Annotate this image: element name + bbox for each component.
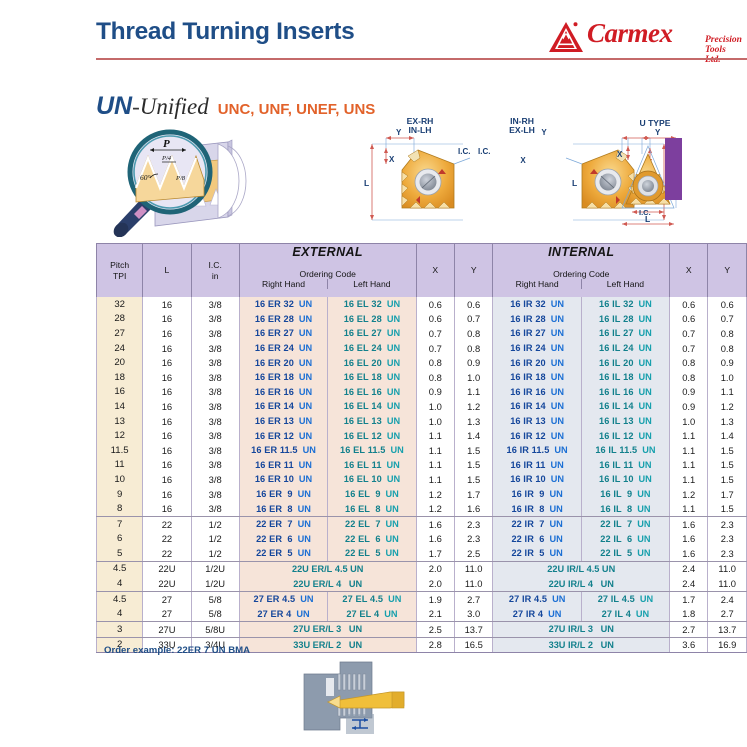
cell-internal-y: 1.4 (708, 428, 747, 443)
cell-internal-left-hand: 22 IL 7UN (581, 516, 669, 531)
table-row: 10163/816 ER 10UN16 EL 10UN1.11.516 IR 1… (97, 472, 747, 487)
cell-external-right-hand: 22 ER 5UN (239, 546, 327, 561)
cell-pitch-tpi: 11.5 (97, 443, 143, 458)
cell-pitch-tpi: 14 (97, 399, 143, 414)
cell-external-y: 1.5 (454, 443, 493, 458)
cell-pitch-tpi: 24 (97, 341, 143, 356)
cell-ic: 1/2 (191, 546, 239, 561)
diagram-2-x-label: X (520, 156, 526, 165)
cell-external-x: 1.2 (416, 487, 454, 502)
diagram-2-y-label: Y (541, 128, 547, 137)
cell-ic: 1/2 (191, 516, 239, 531)
cell-external-left-hand: 27 EL 4.5UN (328, 591, 416, 606)
cell-internal-x: 2.4 (670, 561, 708, 576)
col-header-ic: I.C. in (191, 244, 239, 298)
cell-ic: 3/8 (191, 385, 239, 400)
svg-text:X: X (389, 155, 395, 164)
cell-external-right-hand: 16 ER 11.5UN (239, 443, 327, 458)
cell-internal-x: 2.4 (670, 576, 708, 591)
cell-internal-left-hand: 27 IL 4.5UN (581, 591, 669, 606)
table-row: 327U5/8U27U ER/L 3 UN2.513.727U IR/L 3 U… (97, 622, 747, 638)
cell-external-x: 2.0 (416, 576, 454, 591)
cell-external-right-hand: 16 ER 9UN (239, 487, 327, 502)
cell-external-x: 0.7 (416, 326, 454, 341)
table-row: 13163/816 ER 13UN16 EL 13UN1.01.316 IR 1… (97, 414, 747, 429)
cell-l: 16 (143, 443, 191, 458)
table-row: 24163/816 ER 24UN16 EL 24UN0.70.816 IR 2… (97, 341, 747, 356)
cell-external-y: 13.7 (454, 622, 493, 638)
svg-text:L: L (364, 178, 369, 188)
cell-external-x: 2.0 (416, 561, 454, 576)
cell-internal-y: 13.7 (708, 622, 747, 638)
cell-internal-x: 0.7 (670, 341, 708, 356)
col-header-internal-ordering: Ordering Code Right Hand Left Hand (493, 261, 670, 297)
cell-external-y: 1.4 (454, 428, 493, 443)
cell-internal-left-hand: 16 IL 24UN (581, 341, 669, 356)
cell-external-y: 1.7 (454, 487, 493, 502)
cell-internal-y: 0.6 (708, 297, 747, 312)
cell-external-y: 1.2 (454, 399, 493, 414)
diagram-1-label-line2: IN-LH (409, 125, 432, 135)
cell-external-x: 1.6 (416, 532, 454, 547)
table-row: 5221/222 ER 5UN22 EL 5UN1.72.522 IR 5UN2… (97, 546, 747, 561)
cell-external-left-hand: 16 EL 18UN (328, 370, 416, 385)
table-row: 20163/816 ER 20UN16 EL 20UN0.80.916 IR 2… (97, 355, 747, 370)
cell-internal-y: 1.5 (708, 458, 747, 473)
table-row: 8163/816 ER 8UN16 EL 8UN1.21.616 IR 8UN1… (97, 501, 747, 516)
brand-name: Carmex (587, 18, 673, 49)
cell-internal-right-hand: 16 IR 18UN (493, 370, 581, 385)
cell-pitch-tpi: 4 (97, 576, 143, 591)
cell-pitch-tpi: 9 (97, 487, 143, 502)
cell-external-ordering-code-merged: 22U ER/L 4 UN (239, 576, 416, 591)
cell-external-right-hand: 27 ER 4UN (239, 606, 327, 621)
cell-external-ordering-code-merged: 33U ER/L 2 UN (239, 637, 416, 653)
cell-internal-x: 1.1 (670, 428, 708, 443)
cell-internal-ordering-code-merged: 27U IR/L 3 UN (493, 622, 670, 638)
cell-pitch-tpi: 3 (97, 622, 143, 638)
cell-external-x: 1.0 (416, 399, 454, 414)
cell-internal-right-hand: 16 IR 12UN (493, 428, 581, 443)
cell-l: 27 (143, 591, 191, 606)
insert-specification-table: Pitch TPI L I.C. in EXTERNAL X (96, 243, 747, 653)
cell-internal-left-hand: 16 IL 12UN (581, 428, 669, 443)
cell-internal-x: 1.6 (670, 532, 708, 547)
cell-internal-x: 0.6 (670, 297, 708, 312)
cell-external-right-hand: 16 ER 28UN (239, 312, 327, 327)
svg-text:Y: Y (396, 128, 402, 137)
cell-external-right-hand: 16 ER 24UN (239, 341, 327, 356)
cell-external-left-hand: 22 EL 5UN (328, 546, 416, 561)
cell-internal-right-hand: 16 IR 11.5UN (493, 443, 581, 458)
cell-internal-x: 1.7 (670, 591, 708, 606)
table-row: 12163/816 ER 12UN16 EL 12UN1.11.416 IR 1… (97, 428, 747, 443)
cell-external-y: 1.0 (454, 370, 493, 385)
brand-tagline: Precision Tools Ltd. (705, 35, 742, 65)
cell-l: 22 (143, 532, 191, 547)
cell-external-right-hand: 22 ER 7UN (239, 516, 327, 531)
cell-internal-y: 1.7 (708, 487, 747, 502)
cell-internal-x: 1.0 (670, 414, 708, 429)
cell-external-left-hand: 27 EL 4UN (328, 606, 416, 621)
diagram-3-label-line1: U TYPE (639, 118, 670, 128)
cell-external-right-hand: 16 ER 12UN (239, 428, 327, 443)
cell-external-y: 2.7 (454, 591, 493, 606)
standard-code: UN (96, 92, 132, 120)
standard-subtitle: UN-UnifiedUNC, UNF, UNEF, UNS (96, 92, 375, 121)
cell-external-right-hand: 16 ER 27UN (239, 326, 327, 341)
cell-external-y: 1.6 (454, 501, 493, 516)
cell-external-right-hand: 16 ER 20UN (239, 355, 327, 370)
cell-l: 16 (143, 326, 191, 341)
cell-external-y: 0.8 (454, 341, 493, 356)
cell-external-right-hand: 27 ER 4.5UN (239, 591, 327, 606)
cell-external-left-hand: 16 EL 32UN (328, 297, 416, 312)
cell-external-left-hand: 16 EL 20UN (328, 355, 416, 370)
svg-text:Y: Y (655, 128, 661, 137)
cell-external-left-hand: 16 EL 16UN (328, 385, 416, 400)
cell-internal-y: 1.2 (708, 399, 747, 414)
cell-internal-left-hand: 16 IL 10UN (581, 472, 669, 487)
table-row: 11163/816 ER 11UN16 EL 11UN1.11.516 IR 1… (97, 458, 747, 473)
cell-internal-ordering-code-merged: 22U IR/L 4 UN (493, 576, 670, 591)
cell-internal-x: 1.6 (670, 516, 708, 531)
cell-internal-right-hand: 16 IR 11UN (493, 458, 581, 473)
cell-ic: 3/8 (191, 297, 239, 312)
cell-internal-right-hand: 16 IR 16UN (493, 385, 581, 400)
cell-external-y: 1.5 (454, 472, 493, 487)
cell-internal-x: 0.8 (670, 355, 708, 370)
cell-external-x: 0.6 (416, 297, 454, 312)
cell-l: 16 (143, 414, 191, 429)
standard-variants: UNC, UNF, UNEF, UNS (218, 101, 376, 118)
cell-internal-right-hand: 22 IR 6UN (493, 532, 581, 547)
cell-ic: 3/8 (191, 399, 239, 414)
cell-external-left-hand: 16 EL 13UN (328, 414, 416, 429)
cell-l: 16 (143, 399, 191, 414)
cell-internal-right-hand: 16 IR 27UN (493, 326, 581, 341)
svg-text:I.C.: I.C. (458, 147, 470, 156)
cell-external-x: 2.8 (416, 637, 454, 653)
cell-l: 27U (143, 622, 191, 638)
cell-pitch-tpi: 10 (97, 472, 143, 487)
cell-internal-y: 2.7 (708, 606, 747, 621)
cell-ic: 3/8 (191, 341, 239, 356)
cell-external-y: 2.5 (454, 546, 493, 561)
cell-internal-x: 0.9 (670, 385, 708, 400)
cell-ic: 3/8 (191, 370, 239, 385)
table-row: 11.5163/816 ER 11.5UN16 EL 11.5UN1.11.51… (97, 443, 747, 458)
cell-internal-y: 2.3 (708, 546, 747, 561)
insert-diagrams-group: L X Y (358, 112, 698, 236)
cell-external-y: 0.8 (454, 326, 493, 341)
page-title: Thread Turning Inserts (96, 18, 354, 46)
cell-internal-left-hand: 16 IL 18UN (581, 370, 669, 385)
table-row: 27163/816 ER 27UN16 EL 27UN0.70.816 IR 2… (97, 326, 747, 341)
section-edge-tab (665, 138, 682, 200)
cell-internal-x: 1.2 (670, 487, 708, 502)
cell-internal-y: 0.9 (708, 355, 747, 370)
cell-internal-x: 0.6 (670, 312, 708, 327)
cell-external-left-hand: 16 EL 8UN (328, 501, 416, 516)
cell-ic: 3/8 (191, 443, 239, 458)
cell-pitch-tpi: 7 (97, 516, 143, 531)
order-example-text: Order example: 22ER 7 UN BMA (104, 645, 250, 656)
cell-external-x: 1.1 (416, 443, 454, 458)
cell-l: 16 (143, 487, 191, 502)
insert-external-right-hand-icon: L X Y (364, 128, 470, 220)
cell-internal-x: 0.9 (670, 399, 708, 414)
cell-external-y: 1.5 (454, 458, 493, 473)
col-header-external-ordering: Ordering Code Right Hand Left Hand (239, 261, 416, 297)
col-header-internal-y: Y (708, 244, 747, 298)
cell-external-right-hand: 16 ER 16UN (239, 385, 327, 400)
table-row: 7221/222 ER 7UN22 EL 7UN1.62.322 IR 7UN2… (97, 516, 747, 531)
cell-external-right-hand: 16 ER 11UN (239, 458, 327, 473)
cell-l: 16 (143, 355, 191, 370)
subtitle-dash: - (132, 94, 140, 119)
table-row: 32163/816 ER 32UN16 EL 32UN0.60.616 IR 3… (97, 297, 747, 312)
cell-l: 16 (143, 428, 191, 443)
cell-internal-left-hand: 16 IL 13UN (581, 414, 669, 429)
cell-internal-y: 1.3 (708, 414, 747, 429)
cell-external-y: 0.7 (454, 312, 493, 327)
table-body: 32163/816 ER 32UN16 EL 32UN0.60.616 IR 3… (97, 297, 747, 653)
table-row: 6221/222 ER 6UN22 EL 6UN1.62.322 IR 6UN2… (97, 532, 747, 547)
svg-text:P: P (163, 138, 170, 150)
cell-ic: 3/8 (191, 458, 239, 473)
cell-l: 16 (143, 472, 191, 487)
cell-external-x: 1.9 (416, 591, 454, 606)
cell-external-left-hand: 22 EL 7UN (328, 516, 416, 531)
cell-ic: 5/8 (191, 606, 239, 621)
table-row: 14163/816 ER 14UN16 EL 14UN1.01.216 IR 1… (97, 399, 747, 414)
cell-internal-x: 0.8 (670, 370, 708, 385)
cell-internal-left-hand: 22 IL 6UN (581, 532, 669, 547)
table-row: 422U1/2U22U ER/L 4 UN2.011.022U IR/L 4 U… (97, 576, 747, 591)
cell-external-left-hand: 16 EL 11.5UN (328, 443, 416, 458)
cell-external-x: 2.5 (416, 622, 454, 638)
cell-external-right-hand: 16 ER 32UN (239, 297, 327, 312)
cell-internal-x: 2.7 (670, 622, 708, 638)
external-threading-operation-icon (300, 658, 410, 744)
cell-pitch-tpi: 4.5 (97, 591, 143, 606)
cell-external-x: 1.1 (416, 472, 454, 487)
cell-pitch-tpi: 28 (97, 312, 143, 327)
cell-pitch-tpi: 20 (97, 355, 143, 370)
cell-external-left-hand: 16 EL 9UN (328, 487, 416, 502)
cell-internal-right-hand: 27 IR 4.5UN (493, 591, 581, 606)
page-header: Thread Turning Inserts Carmex Precision … (96, 18, 747, 64)
cell-pitch-tpi: 4 (97, 606, 143, 621)
cell-external-x: 1.1 (416, 428, 454, 443)
cell-l: 22 (143, 516, 191, 531)
cell-external-x: 0.8 (416, 355, 454, 370)
cell-internal-right-hand: 16 IR 28UN (493, 312, 581, 327)
magnifier-thread-profile-icon: P P/4 P/8 60° (100, 122, 355, 237)
cell-internal-right-hand: 16 IR 20UN (493, 355, 581, 370)
cell-external-right-hand: 16 ER 8UN (239, 501, 327, 516)
diagram-2-l-label: L (572, 178, 577, 188)
cell-internal-x: 1.1 (670, 458, 708, 473)
cell-internal-left-hand: 16 IL 8UN (581, 501, 669, 516)
cell-external-left-hand: 16 EL 28UN (328, 312, 416, 327)
cell-internal-y: 11.0 (708, 576, 747, 591)
cell-pitch-tpi: 8 (97, 501, 143, 516)
cell-internal-y: 1.5 (708, 443, 747, 458)
standard-name: Unified (140, 94, 209, 119)
cell-external-y: 2.3 (454, 516, 493, 531)
cell-internal-x: 1.1 (670, 472, 708, 487)
cell-internal-left-hand: 16 IL 32UN (581, 297, 669, 312)
cell-internal-left-hand: 16 IL 27UN (581, 326, 669, 341)
cell-internal-right-hand: 22 IR 7UN (493, 516, 581, 531)
cell-internal-right-hand: 16 IR 24UN (493, 341, 581, 356)
cell-internal-x: 1.1 (670, 501, 708, 516)
cell-external-x: 0.9 (416, 385, 454, 400)
header-divider (96, 58, 747, 60)
cell-external-x: 1.7 (416, 546, 454, 561)
col-header-external: EXTERNAL (239, 244, 416, 262)
cell-l: 16 (143, 458, 191, 473)
cell-external-right-hand: 16 ER 18UN (239, 370, 327, 385)
cell-internal-ordering-code-merged: 22U IR/L 4.5 UN (493, 561, 670, 576)
cell-external-y: 16.5 (454, 637, 493, 653)
cell-external-left-hand: 16 EL 14UN (328, 399, 416, 414)
cell-ic: 5/8 (191, 591, 239, 606)
cell-internal-y: 1.5 (708, 472, 747, 487)
cell-pitch-tpi: 4.5 (97, 561, 143, 576)
table-row: 4.5275/827 ER 4.5UN27 EL 4.5UN1.92.727 I… (97, 591, 747, 606)
cell-external-ordering-code-merged: 22U ER/L 4.5 UN (239, 561, 416, 576)
cell-external-y: 11.0 (454, 576, 493, 591)
carmex-triangle-logo-icon (548, 21, 584, 53)
cell-internal-right-hand: 16 IR 14UN (493, 399, 581, 414)
cell-internal-right-hand: 22 IR 5UN (493, 546, 581, 561)
cell-pitch-tpi: 27 (97, 326, 143, 341)
table-row: 18163/816 ER 18UN16 EL 18UN0.81.016 IR 1… (97, 370, 747, 385)
cell-l: 16 (143, 385, 191, 400)
diagram-2-ic-label: I.C. (478, 147, 490, 156)
cell-external-left-hand: 16 EL 27UN (328, 326, 416, 341)
cell-internal-x: 0.7 (670, 326, 708, 341)
cell-internal-y: 0.8 (708, 326, 747, 341)
cell-internal-left-hand: 16 IL 28UN (581, 312, 669, 327)
cell-internal-left-hand: 22 IL 5UN (581, 546, 669, 561)
cell-l: 16 (143, 370, 191, 385)
table-row: 9163/816 ER 9UN16 EL 9UN1.21.716 IR 9UN1… (97, 487, 747, 502)
cell-ic: 3/8 (191, 326, 239, 341)
cell-external-y: 2.3 (454, 532, 493, 547)
cell-internal-y: 2.4 (708, 591, 747, 606)
cell-internal-y: 0.8 (708, 341, 747, 356)
cell-internal-left-hand: 16 IL 14UN (581, 399, 669, 414)
cell-external-ordering-code-merged: 27U ER/L 3 UN (239, 622, 416, 638)
cell-internal-ordering-code-merged: 33U IR/L 2 UN (493, 637, 670, 653)
col-header-pitch: Pitch TPI (97, 244, 143, 298)
cell-internal-left-hand: 27 IL 4UN (581, 606, 669, 621)
svg-text:L: L (645, 214, 650, 224)
cell-internal-y: 1.0 (708, 370, 747, 385)
cell-ic: 3/8 (191, 487, 239, 502)
cell-internal-right-hand: 16 IR 9UN (493, 487, 581, 502)
table-row: 16163/816 ER 16UN16 EL 16UN0.91.116 IR 1… (97, 385, 747, 400)
svg-text:P/4: P/4 (161, 155, 172, 162)
cell-external-y: 0.6 (454, 297, 493, 312)
cell-pitch-tpi: 11 (97, 458, 143, 473)
cell-pitch-tpi: 5 (97, 546, 143, 561)
cell-external-x: 1.6 (416, 516, 454, 531)
cell-external-x: 0.7 (416, 341, 454, 356)
cell-pitch-tpi: 12 (97, 428, 143, 443)
cell-pitch-tpi: 16 (97, 385, 143, 400)
cell-ic: 3/8 (191, 355, 239, 370)
cell-external-right-hand: 16 ER 14UN (239, 399, 327, 414)
col-header-external-x: X (416, 244, 454, 298)
cell-internal-y: 11.0 (708, 561, 747, 576)
cell-external-right-hand: 16 ER 13UN (239, 414, 327, 429)
cell-external-left-hand: 16 EL 11UN (328, 458, 416, 473)
cell-internal-right-hand: 16 IR 10UN (493, 472, 581, 487)
cell-ic: 3/8 (191, 501, 239, 516)
cell-internal-x: 1.1 (670, 443, 708, 458)
cell-l: 22 (143, 546, 191, 561)
col-header-internal-x: X (670, 244, 708, 298)
cell-external-y: 1.1 (454, 385, 493, 400)
cell-external-x: 1.0 (416, 414, 454, 429)
cell-ic: 1/2U (191, 561, 239, 576)
table-row: 4.522U1/2U22U ER/L 4.5 UN2.011.022U IR/L… (97, 561, 747, 576)
cell-internal-x: 3.6 (670, 637, 708, 653)
col-header-internal: INTERNAL (493, 244, 670, 262)
cell-external-right-hand: 16 ER 10UN (239, 472, 327, 487)
cell-internal-left-hand: 16 IL 11UN (581, 458, 669, 473)
cell-internal-left-hand: 16 IL 11.5UN (581, 443, 669, 458)
table-row: 4275/827 ER 4UN27 EL 4UN2.13.027 IR 4UN2… (97, 606, 747, 621)
cell-internal-y: 2.3 (708, 532, 747, 547)
cell-internal-x: 1.6 (670, 546, 708, 561)
cell-l: 22U (143, 561, 191, 576)
cell-ic: 1/2 (191, 532, 239, 547)
cell-l: 16 (143, 312, 191, 327)
cell-internal-y: 0.7 (708, 312, 747, 327)
cell-external-left-hand: 16 EL 10UN (328, 472, 416, 487)
diagram-2-label-line2: EX-LH (509, 125, 535, 135)
cell-external-left-hand: 22 EL 6UN (328, 532, 416, 547)
cell-ic: 5/8U (191, 622, 239, 638)
cell-internal-left-hand: 16 IL 9UN (581, 487, 669, 502)
svg-text:P/8: P/8 (175, 175, 186, 182)
cell-pitch-tpi: 6 (97, 532, 143, 547)
cell-internal-right-hand: 27 IR 4UN (493, 606, 581, 621)
cell-ic: 3/8 (191, 312, 239, 327)
cell-ic: 3/8 (191, 472, 239, 487)
cell-pitch-tpi: 13 (97, 414, 143, 429)
cell-l: 16 (143, 297, 191, 312)
cell-external-x: 1.1 (416, 458, 454, 473)
table-row: 28163/816 ER 28UN16 EL 28UN0.60.716 IR 2… (97, 312, 747, 327)
cell-internal-x: 1.8 (670, 606, 708, 621)
cell-l: 27 (143, 606, 191, 621)
cell-external-y: 1.3 (454, 414, 493, 429)
cell-external-x: 1.2 (416, 501, 454, 516)
cell-internal-right-hand: 16 IR 32UN (493, 297, 581, 312)
cell-ic: 3/8 (191, 414, 239, 429)
svg-text:60°: 60° (140, 173, 151, 182)
table-header-top: Pitch TPI L I.C. in EXTERNAL X (97, 244, 747, 262)
catalog-page: Thread Turning Inserts Carmex Precision … (0, 0, 747, 747)
cell-external-x: 0.8 (416, 370, 454, 385)
